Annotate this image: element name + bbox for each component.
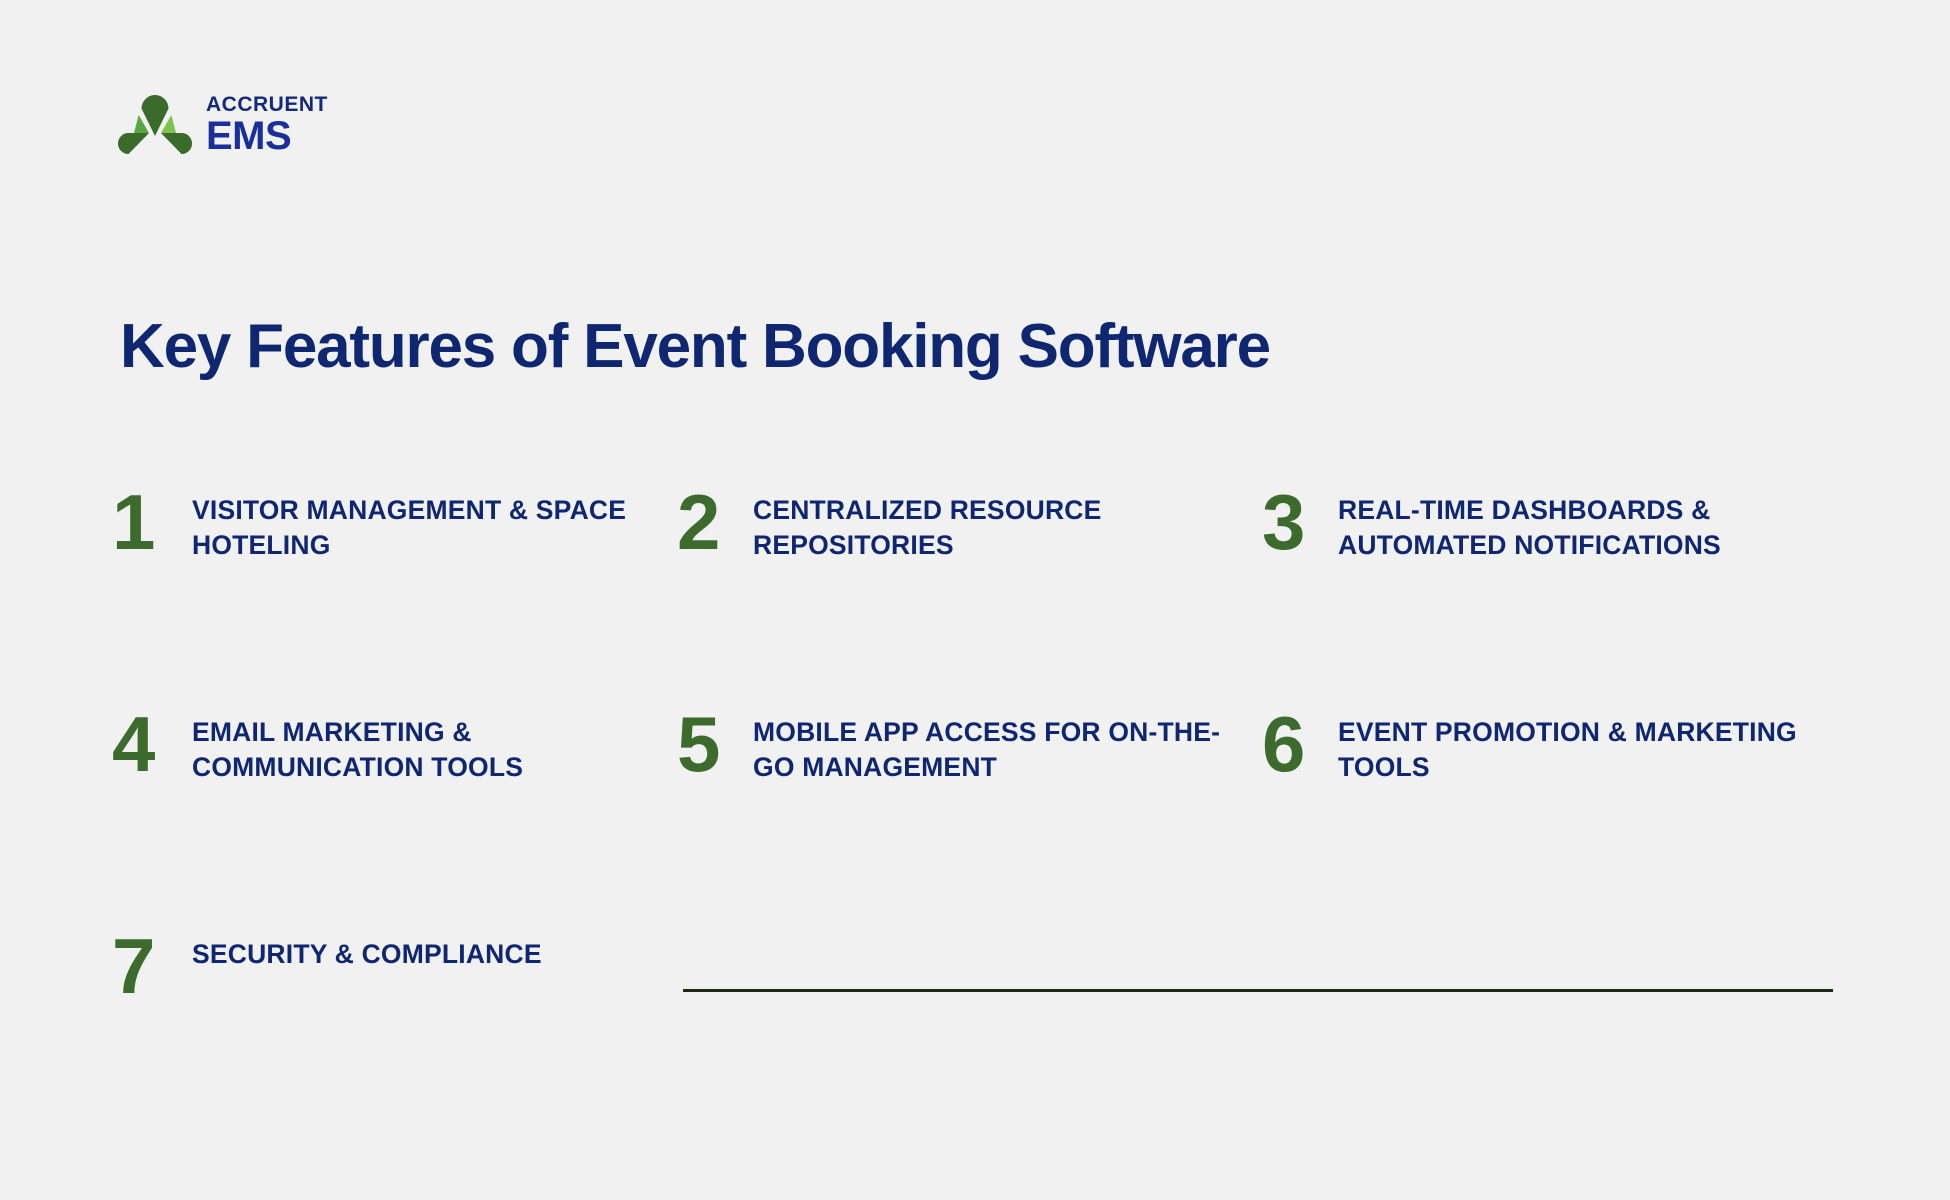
brand-logo: ACCRUENT EMS — [118, 92, 328, 156]
feature-label: CENTRALIZED RESOURCE REPOSITORIES — [753, 487, 1223, 563]
divider-rule — [683, 989, 1833, 992]
feature-number: 2 — [677, 487, 735, 559]
feature-number: 7 — [112, 931, 174, 1003]
feature-label: SECURITY & COMPLIANCE — [192, 931, 542, 972]
feature-number: 4 — [112, 709, 174, 781]
feature-item-4: 4 EMAIL MARKETING & COMMUNICATION TOOLS — [112, 709, 677, 931]
wordmark-accruent: ACCRUENT — [206, 94, 328, 115]
feature-item-1: 1 VISITOR MANAGEMENT & SPACE HOTELING — [112, 487, 677, 709]
infographic-canvas: ACCRUENT EMS Key Features of Event Booki… — [0, 0, 1950, 1200]
feature-number: 5 — [677, 709, 735, 781]
feature-number: 3 — [1262, 487, 1320, 559]
feature-item-6: 6 EVENT PROMOTION & MARKETING TOOLS — [1262, 709, 1842, 931]
feature-label: MOBILE APP ACCESS FOR ON-THE-GO MANAGEME… — [753, 709, 1223, 785]
feature-number: 1 — [112, 487, 174, 559]
feature-label: VISITOR MANAGEMENT & SPACE HOTELING — [192, 487, 662, 563]
page-title: Key Features of Event Booking Software — [120, 314, 1270, 379]
feature-label: EMAIL MARKETING & COMMUNICATION TOOLS — [192, 709, 662, 785]
feature-number: 6 — [1262, 709, 1320, 781]
accruent-triple-petal-mark — [118, 92, 192, 156]
wordmark-ems: EMS — [206, 117, 328, 155]
feature-label: EVENT PROMOTION & MARKETING TOOLS — [1338, 709, 1808, 785]
brand-wordmark: ACCRUENT EMS — [206, 94, 328, 155]
feature-item-3: 3 REAL-TIME DASHBOARDS & AUTOMATED NOTIF… — [1262, 487, 1842, 709]
feature-item-2: 2 CENTRALIZED RESOURCE REPOSITORIES — [677, 487, 1262, 709]
feature-list: 1 VISITOR MANAGEMENT & SPACE HOTELING 2 … — [112, 487, 1842, 1153]
feature-label: REAL-TIME DASHBOARDS & AUTOMATED NOTIFIC… — [1338, 487, 1808, 563]
feature-item-7: 7 SECURITY & COMPLIANCE — [112, 931, 677, 1153]
feature-item-5: 5 MOBILE APP ACCESS FOR ON-THE-GO MANAGE… — [677, 709, 1262, 931]
